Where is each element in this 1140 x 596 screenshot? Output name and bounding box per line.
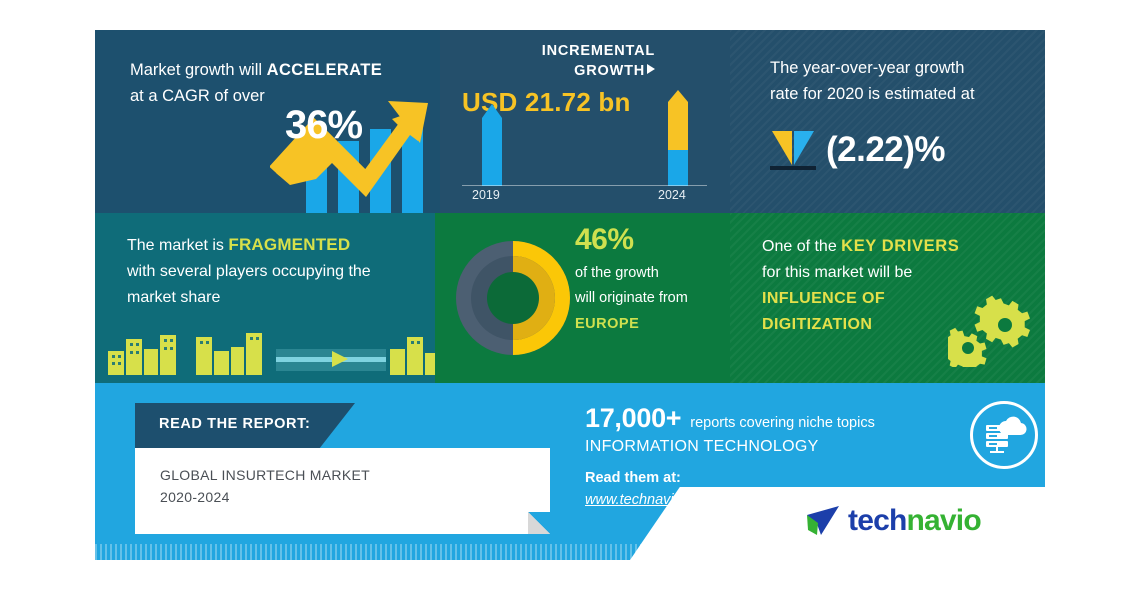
read-the-report-label: READ THE REPORT: <box>159 416 310 432</box>
infographic-container: Market growth will ACCELERATE at a CAGR … <box>95 30 1045 560</box>
read-the-report-tag: READ THE REPORT: <box>135 403 355 448</box>
logo-text-tech: tech <box>848 504 907 537</box>
incremental-label-line1: INCREMENTAL <box>542 43 655 59</box>
incremental-axis-line <box>462 185 707 186</box>
fragmented-prefix: The market is <box>127 237 228 254</box>
report-count-caption: reports covering niche topics <box>690 415 875 431</box>
fragmented-keyword: FRAGMENTED <box>228 235 350 254</box>
drivers-keyword: KEY DRIVERS <box>841 237 959 255</box>
report-category: INFORMATION TECHNOLOGY <box>585 438 965 456</box>
yoy-value-row: (2.22)% <box>770 127 945 173</box>
accelerate-suffix: at a CAGR of over <box>130 87 265 105</box>
yoy-value: (2.22)% <box>826 130 945 170</box>
cloud-server-icon <box>970 401 1038 469</box>
read-them-at-label: Read them at: <box>585 470 965 486</box>
report-period: 2020-2024 <box>160 489 230 505</box>
incremental-label-line2: GROWTH <box>574 63 645 79</box>
yoy-text-line1: The year-over-year growth <box>770 59 964 77</box>
footer-dotted-strip <box>95 544 1045 560</box>
europe-text-line2: will originate from <box>575 290 688 306</box>
panel-fragmented: The market is FRAGMENTED with several pl… <box>95 213 435 383</box>
cagr-value: 36% <box>285 103 362 148</box>
footer-bar: READ THE REPORT: GLOBAL INSURTECH MARKET… <box>95 383 1045 560</box>
report-title: GLOBAL INSURTECH MARKET <box>160 467 370 483</box>
drivers-line2: for this market will be <box>762 264 912 281</box>
panel-yoy-growth: The year-over-year growth rate for 2020 … <box>730 30 1045 213</box>
accelerate-prefix: Market growth will <box>130 61 267 79</box>
europe-share-value: 46% <box>575 223 634 257</box>
report-card[interactable]: GLOBAL INSURTECH MARKET 2020-2024 <box>135 448 550 534</box>
incremental-year-end: 2024 <box>658 188 686 202</box>
growth-bars-icon <box>462 90 712 186</box>
europe-text-line1: of the growth <box>575 265 659 281</box>
technavio-wordmark: technavio <box>848 504 981 538</box>
top-row: Market growth will ACCELERATE at a CAGR … <box>95 30 1045 213</box>
report-count: 17,000+ <box>585 403 681 434</box>
fragmented-text: The market is FRAGMENTED with several pl… <box>127 231 427 311</box>
fragmented-line2: with several players occupying the <box>127 263 371 280</box>
accelerate-keyword: ACCELERATE <box>267 61 383 79</box>
panel-accelerate: Market growth will ACCELERATE at a CAGR … <box>95 30 440 213</box>
fragmented-line3: market share <box>127 289 220 306</box>
incremental-growth-label: INCREMENTAL GROWTH <box>465 42 655 81</box>
driver-line2: DIGITIZATION <box>762 316 872 333</box>
logo-text-navio: navio <box>907 504 981 537</box>
stat-headline: 17,000+ reports covering niche topics <box>585 403 965 434</box>
europe-region-label: EUROPE <box>575 316 639 332</box>
drivers-prefix: One of the <box>762 238 841 255</box>
panel-key-drivers: One of the KEY DRIVERS for this market w… <box>730 213 1045 383</box>
panel-europe-share: 46% of the growth will originate from EU… <box>435 213 730 383</box>
technavio-logo: technavio <box>805 504 981 538</box>
down-arrow-icon <box>770 127 816 173</box>
gears-icon <box>948 295 1030 367</box>
panel-incremental-growth: INCREMENTAL GROWTH USD 21.72 bn 2019 202… <box>440 30 730 213</box>
technavio-paper-plane-icon <box>805 504 841 538</box>
page-fold-corner-icon <box>528 512 550 534</box>
europe-share-text: of the growth will originate from EUROPE <box>575 261 725 337</box>
yoy-text: The year-over-year growth rate for 2020 … <box>770 56 1035 107</box>
driver-line1: INFLUENCE OF <box>762 290 885 307</box>
caret-right-icon <box>647 64 655 74</box>
report-card-text: GLOBAL INSURTECH MARKET 2020-2024 <box>160 464 370 509</box>
donut-chart-icon <box>453 231 573 366</box>
middle-row: The market is FRAGMENTED with several pl… <box>95 213 1045 383</box>
incremental-year-start: 2019 <box>472 188 500 202</box>
yoy-text-line2: rate for 2020 is estimated at <box>770 85 975 103</box>
